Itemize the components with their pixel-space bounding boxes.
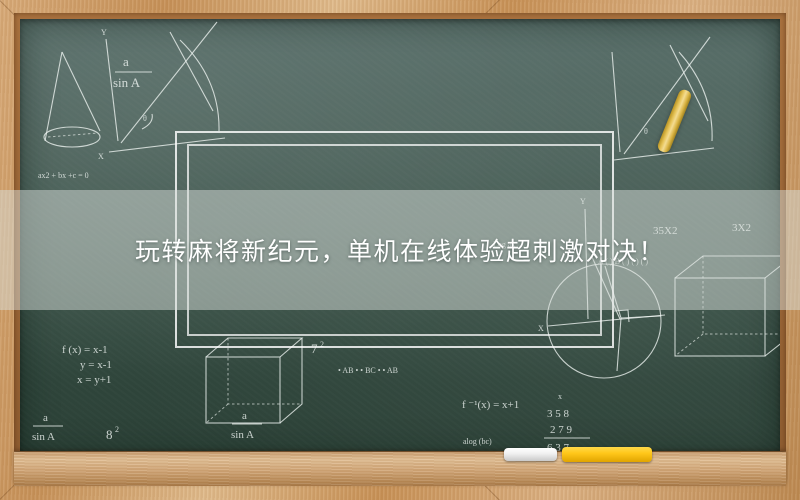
svg-text:a: a [123, 54, 129, 69]
eraser-icon [504, 448, 557, 461]
svg-text:a: a [242, 410, 247, 422]
yellow-chalk-icon [562, 447, 652, 462]
func-fx: f (x) = x-1 [62, 344, 108, 356]
fraction-a-sin-a-top: a sin A [113, 54, 152, 90]
svg-text:2: 2 [115, 425, 119, 434]
eight-squared: 8 2 [106, 425, 119, 442]
fraction-a-sin-a-bottom-left: a sin A [32, 412, 63, 443]
inverse-func: f ⁻¹(x) = x+1 [462, 399, 519, 411]
svg-text:8: 8 [106, 427, 113, 442]
svg-text:X: X [98, 152, 104, 161]
svg-text:Y: Y [101, 28, 107, 37]
cube-center-drawing [206, 338, 302, 423]
svg-text:sin A: sin A [231, 429, 254, 441]
svg-text:3 5 8: 3 5 8 [547, 408, 570, 420]
svg-text:x: x [558, 392, 562, 401]
cone-drawing [44, 52, 100, 147]
long-subtraction: 3 5 8 2 7 9 6 3 7 x [544, 392, 590, 454]
svg-text:sin A: sin A [113, 75, 141, 90]
svg-text:sin A: sin A [32, 431, 55, 443]
svg-text:a: a [43, 412, 48, 424]
banner-image: a sin A Y X θ ax2 + bx +c = 0 [0, 0, 800, 500]
func-y: y = x-1 [80, 359, 112, 371]
log-bc: alog (bc) [463, 437, 492, 446]
page-title: 玩转麻将新纪元，单机在线体验超刺激对决！ [135, 232, 665, 268]
fraction-a-sin-a-bottom-center: a sin A [231, 410, 262, 441]
svg-text:θ: θ [143, 114, 147, 123]
chalk-ledge [14, 452, 786, 486]
svg-text:2 7 9: 2 7 9 [550, 424, 573, 436]
quadratic-equation: ax2 + bx +c = 0 [38, 171, 89, 180]
func-x: x = y+1 [77, 374, 111, 386]
caption-band: 玩转麻将新纪元，单机在线体验超刺激对决！ [0, 190, 800, 310]
vector-note: • AB • • BC • • AB [338, 366, 398, 375]
svg-text:θ: θ [644, 127, 648, 136]
